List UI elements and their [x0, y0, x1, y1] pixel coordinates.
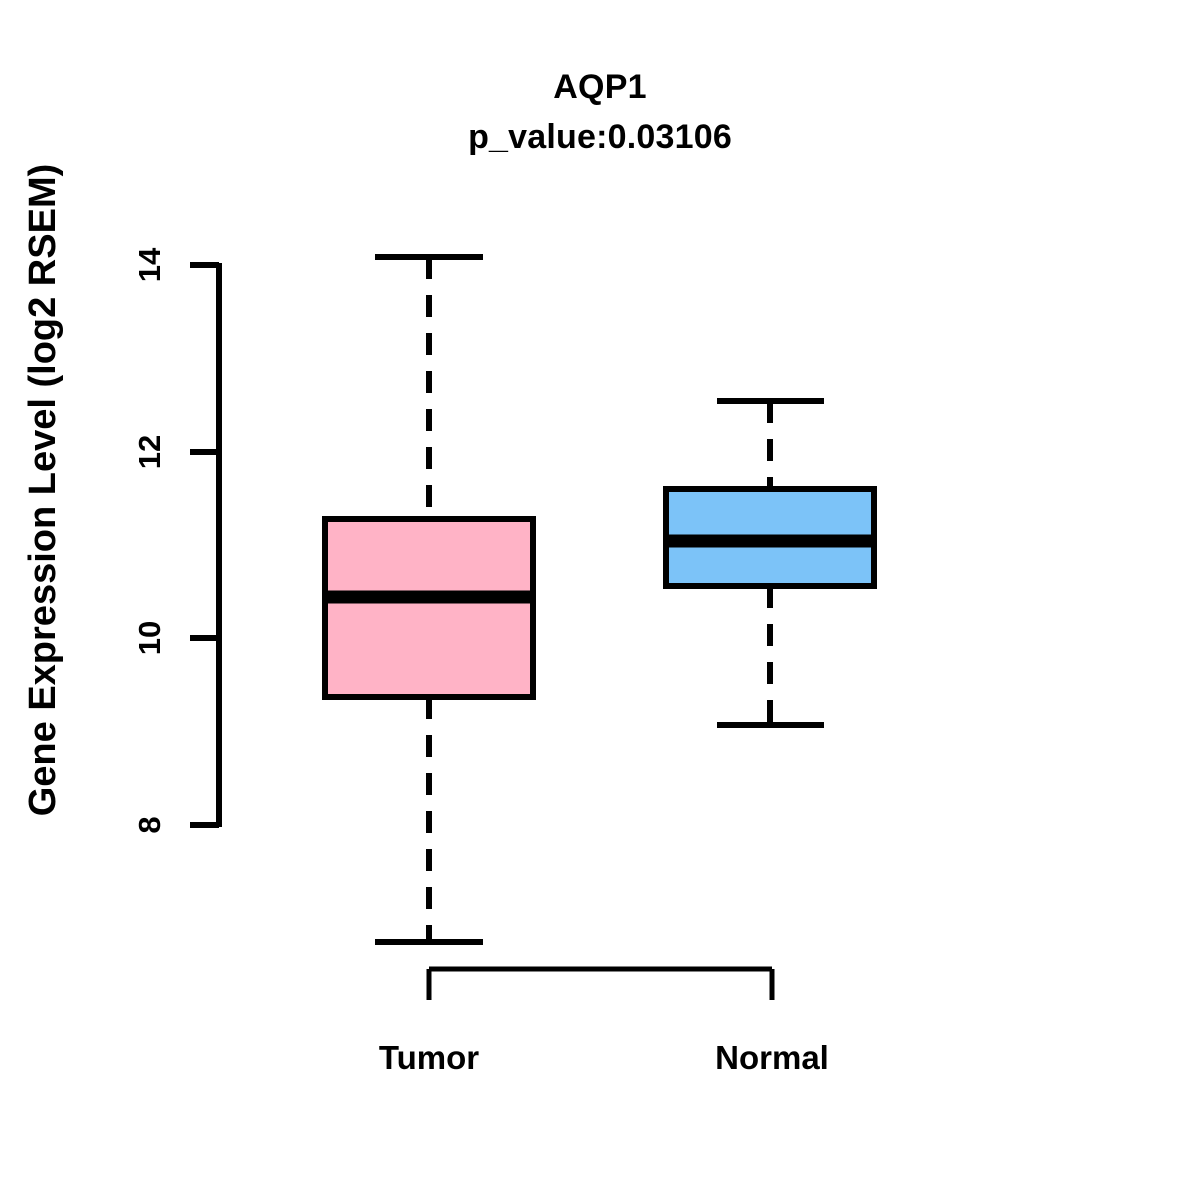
box-group-tumor: [322, 257, 536, 942]
x-axis-label-tumor: Tumor: [309, 1036, 549, 1080]
boxplot-figure: AQP1 p_value:0.03106 Gene Expression Lev…: [0, 0, 1200, 1200]
box-group-normal: [663, 401, 877, 725]
box-rect-tumor[interactable]: [325, 519, 533, 697]
y-axis: [190, 263, 219, 827]
plot-canvas: [0, 0, 1200, 1200]
x-axis-label-normal: Normal: [652, 1036, 892, 1080]
x-axis: [429, 969, 772, 1000]
